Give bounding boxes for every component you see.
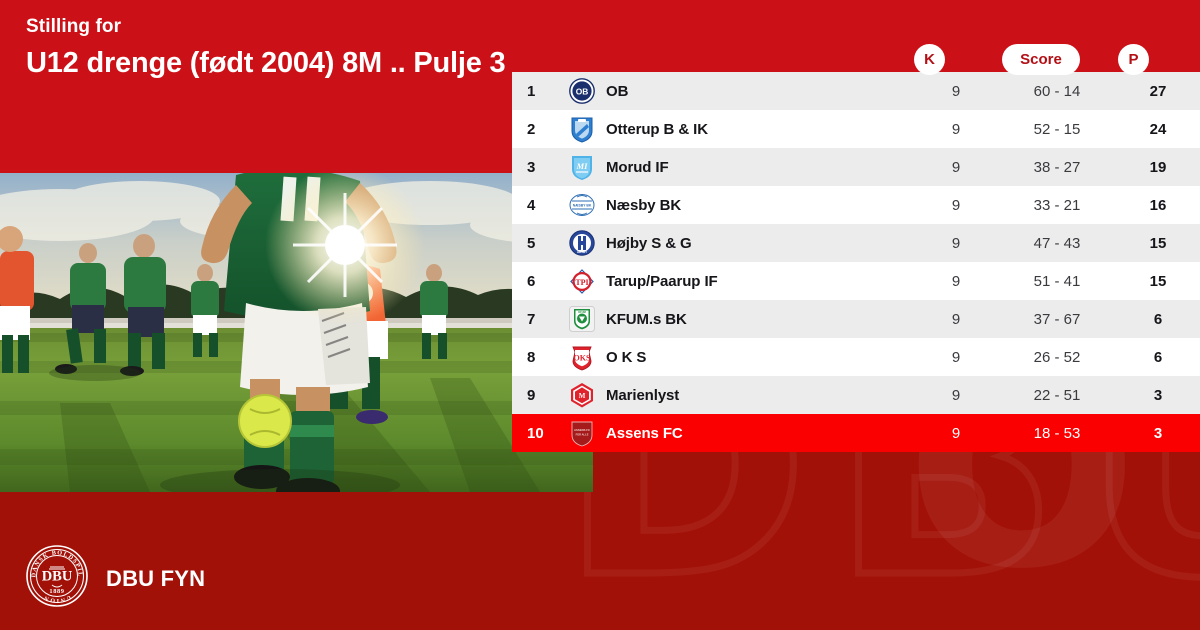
row-matches-played: 9 — [914, 311, 998, 328]
row-matches-played: 9 — [914, 121, 998, 138]
row-goal-score: 60 - 14 — [998, 83, 1116, 100]
morud-logo: MI — [557, 154, 606, 181]
row-matches-played: 9 — [914, 387, 998, 404]
row-matches-played: 9 — [914, 425, 998, 442]
row-matches-played: 9 — [914, 273, 998, 290]
svg-text:MI: MI — [575, 161, 588, 171]
row-team-name: O K S — [606, 349, 914, 366]
row-matches-played: 9 — [914, 197, 998, 214]
row-points: 6 — [1116, 349, 1200, 366]
row-rank: 6 — [512, 273, 557, 290]
footer-label: DBU FYN — [106, 566, 205, 592]
row-goal-score: 33 - 21 — [998, 197, 1116, 214]
row-goal-score: 26 - 52 — [998, 349, 1116, 366]
svg-text:1889: 1889 — [49, 588, 64, 595]
kfum-logo: KFUM — [557, 306, 606, 332]
svg-text:ASSENS FC: ASSENS FC — [573, 428, 589, 432]
svg-text:HØJBY: HØJBY — [576, 250, 586, 254]
row-matches-played: 9 — [914, 235, 998, 252]
oks-logo: OKS — [557, 344, 606, 371]
standings-card: DBU O Stilling for U12 drenge (født 2004… — [0, 0, 1200, 630]
row-goal-score: 51 - 41 — [998, 273, 1116, 290]
table-row[interactable]: 1OBOB960 - 1427 — [512, 72, 1200, 110]
row-rank: 1 — [512, 83, 557, 100]
row-rank: 10 — [512, 425, 557, 442]
row-matches-played: 9 — [914, 159, 998, 176]
row-rank: 2 — [512, 121, 557, 138]
football-match-illustration — [0, 173, 593, 492]
column-header-k: K — [914, 44, 945, 75]
row-matches-played: 9 — [914, 349, 998, 366]
row-rank: 9 — [512, 387, 557, 404]
tarup-paarup-logo: TPI — [557, 268, 606, 295]
table-row[interactable]: 2Otterup B & IK952 - 1524 — [512, 110, 1200, 148]
svg-text:M: M — [578, 392, 585, 400]
hero-photo — [0, 173, 593, 492]
row-points: 16 — [1116, 197, 1200, 214]
watermark-text-secondary: O — [905, 450, 1149, 607]
row-team-name: Marienlyst — [606, 387, 914, 404]
table-row[interactable]: 4NÆSBY BKNæsby BK933 - 2116 — [512, 186, 1200, 224]
row-points: 15 — [1116, 235, 1200, 252]
table-row[interactable]: 10ASSENS FCFOR ALLEAssens FC918 - 533 — [512, 414, 1200, 452]
row-goal-score: 22 - 51 — [998, 387, 1116, 404]
row-rank: 4 — [512, 197, 557, 214]
table-row[interactable]: 7KFUMKFUM.s BK937 - 676 — [512, 300, 1200, 338]
svg-text:KFUM: KFUM — [578, 310, 586, 314]
svg-text:FOR ALLE: FOR ALLE — [575, 432, 588, 436]
row-team-name: OB — [606, 83, 914, 100]
row-rank: 5 — [512, 235, 557, 252]
standings-table: 1OBOB960 - 14272Otterup B & IK952 - 1524… — [512, 72, 1200, 452]
assens-logo: ASSENS FCFOR ALLE — [557, 420, 606, 447]
row-matches-played: 9 — [914, 83, 998, 100]
row-points: 27 — [1116, 83, 1200, 100]
row-team-name: KFUM.s BK — [606, 311, 914, 328]
row-points: 6 — [1116, 311, 1200, 328]
svg-text:TPI: TPI — [575, 278, 588, 287]
row-goal-score: 37 - 67 — [998, 311, 1116, 328]
row-goal-score: 38 - 27 — [998, 159, 1116, 176]
row-team-name: Assens FC — [606, 425, 914, 442]
row-rank: 7 — [512, 311, 557, 328]
row-goal-score: 52 - 15 — [998, 121, 1116, 138]
naesby-logo: NÆSBY BK — [557, 192, 606, 218]
row-team-name: Næsby BK — [606, 197, 914, 214]
row-goal-score: 47 - 43 — [998, 235, 1116, 252]
svg-text:NÆSBY BK: NÆSBY BK — [572, 204, 591, 208]
row-team-name: Højby S & G — [606, 235, 914, 252]
row-points: 15 — [1116, 273, 1200, 290]
table-row[interactable]: 5HØJBYHøjby S & G947 - 4315 — [512, 224, 1200, 262]
svg-text:OB: OB — [575, 86, 588, 96]
hojby-logo: HØJBY — [557, 230, 606, 256]
ob-logo: OB — [557, 78, 606, 104]
table-row[interactable]: 6TPITarup/Paarup IF951 - 4115 — [512, 262, 1200, 300]
table-row[interactable]: 8OKSO K S926 - 526 — [512, 338, 1200, 376]
table-row[interactable]: 9MMarienlyst922 - 513 — [512, 376, 1200, 414]
row-points: 3 — [1116, 425, 1200, 442]
header-kicker: Stilling for — [26, 16, 526, 38]
row-points: 19 — [1116, 159, 1200, 176]
svg-text:DBU: DBU — [42, 569, 73, 585]
svg-text:OKS: OKS — [573, 353, 590, 362]
row-goal-score: 18 - 53 — [998, 425, 1116, 442]
dbu-seal-logo: DANSK BOLDSPIL UNION DBU 1889 — [26, 545, 88, 612]
row-points: 24 — [1116, 121, 1200, 138]
marienlyst-logo: M — [557, 382, 606, 409]
row-team-name: Morud IF — [606, 159, 914, 176]
page-title: U12 drenge (født 2004) 8M .. Pulje 3 — [26, 45, 526, 82]
table-header: K Score P — [512, 44, 1200, 76]
row-rank: 8 — [512, 349, 557, 366]
column-header-p: P — [1118, 44, 1149, 75]
row-team-name: Tarup/Paarup IF — [606, 273, 914, 290]
otterup-logo — [557, 116, 606, 143]
table-row[interactable]: 3MIMorud IF938 - 2719 — [512, 148, 1200, 186]
column-header-score: Score — [1002, 44, 1080, 75]
row-team-name: Otterup B & IK — [606, 121, 914, 138]
footer: DANSK BOLDSPIL UNION DBU 1889 DBU FYN — [26, 545, 205, 612]
header-block: Stilling for U12 drenge (født 2004) 8M .… — [26, 16, 526, 82]
row-points: 3 — [1116, 387, 1200, 404]
row-rank: 3 — [512, 159, 557, 176]
